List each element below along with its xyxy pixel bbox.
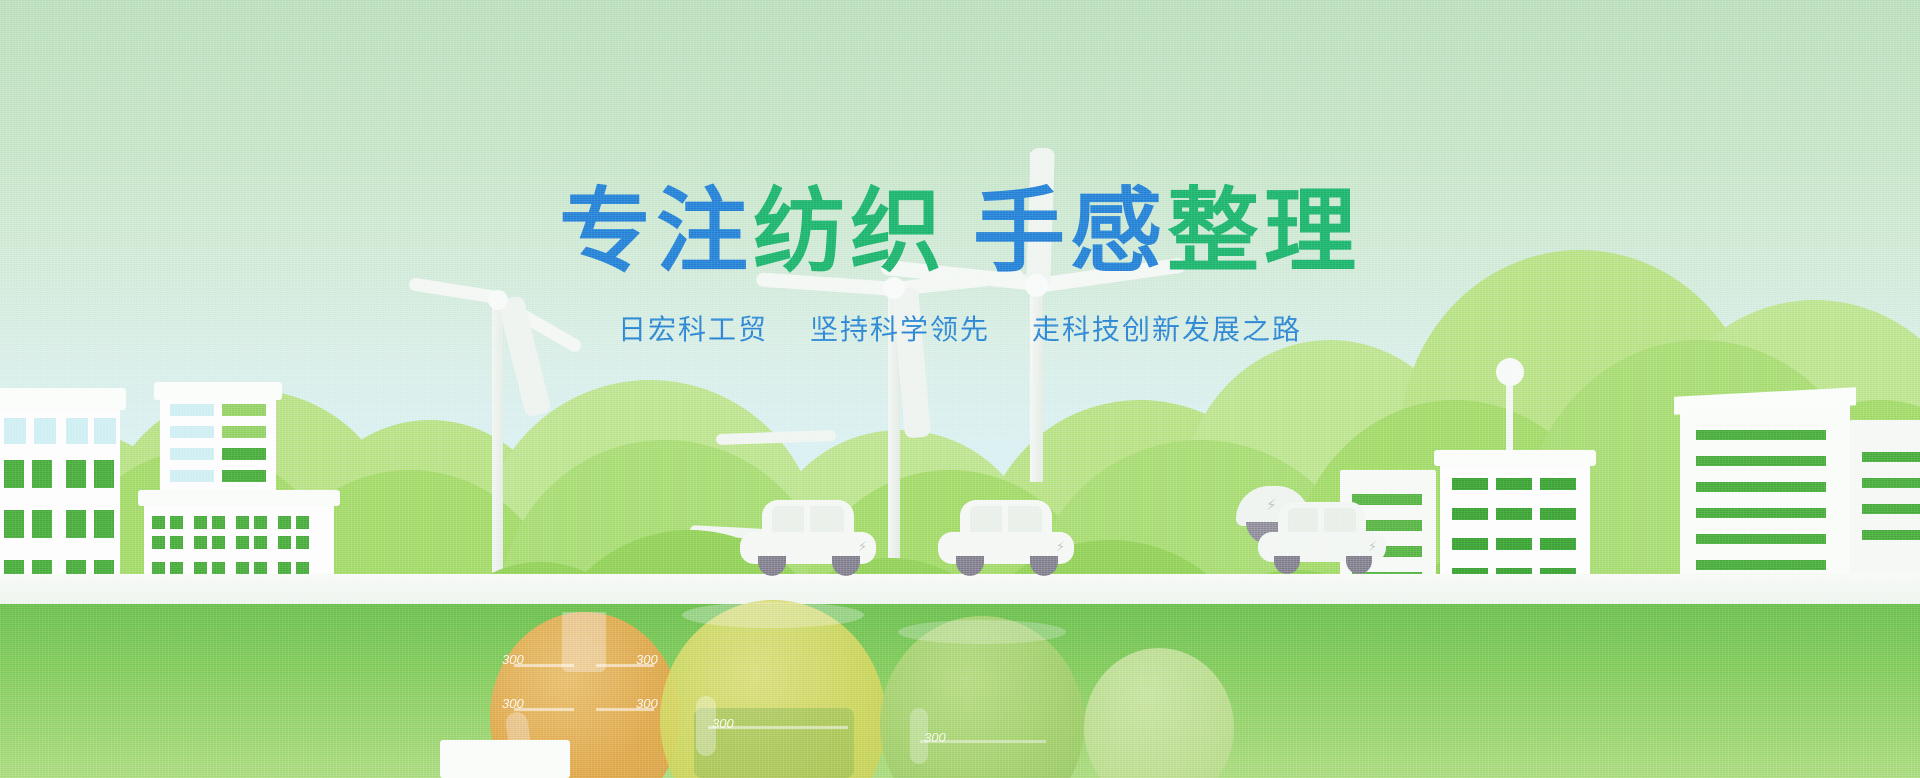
- page-title: 专注纺织手感整理: [0, 186, 1920, 278]
- flask-yellow: 300: [660, 600, 886, 778]
- headline-seg-zhuanzhu: 专注: [559, 181, 753, 283]
- headline-seg-fangzhi: 纺织: [753, 181, 947, 283]
- flask-rim: [682, 602, 864, 628]
- headline-seg-zhengli: 整理: [1167, 181, 1361, 283]
- flask-tick-label: 300: [502, 696, 524, 711]
- flask-body: [1084, 648, 1234, 778]
- headline-seg-shougan: 手感: [973, 181, 1167, 283]
- flask-rim: [898, 620, 1066, 644]
- flask-pale: [1084, 648, 1234, 778]
- hero-text-block: 专注纺织手感整理 日宏科工贸坚持科学领先走科技创新发展之路: [0, 186, 1920, 348]
- flask-highlight: [696, 696, 716, 756]
- flask-neck: [562, 612, 606, 672]
- flask-group: 300 300 300 300 300 300: [0, 0, 1920, 778]
- page-subtitle: 日宏科工贸坚持科学领先走科技创新发展之路: [0, 308, 1920, 348]
- subtitle-part-2: 坚持科学领先: [810, 314, 990, 345]
- flask-tick-label: 300: [502, 652, 524, 667]
- flask-highlight: [910, 708, 928, 764]
- label-card: [440, 740, 570, 778]
- flask-tick-label: 300: [636, 652, 658, 667]
- flask-green: 300: [880, 616, 1084, 778]
- hero-banner: ⚡ ⚡ ⚡: [0, 0, 1920, 778]
- flask-tick-label: 300: [636, 696, 658, 711]
- subtitle-part-3: 走科技创新发展之路: [1032, 314, 1302, 345]
- subtitle-part-1: 日宏科工贸: [618, 314, 768, 345]
